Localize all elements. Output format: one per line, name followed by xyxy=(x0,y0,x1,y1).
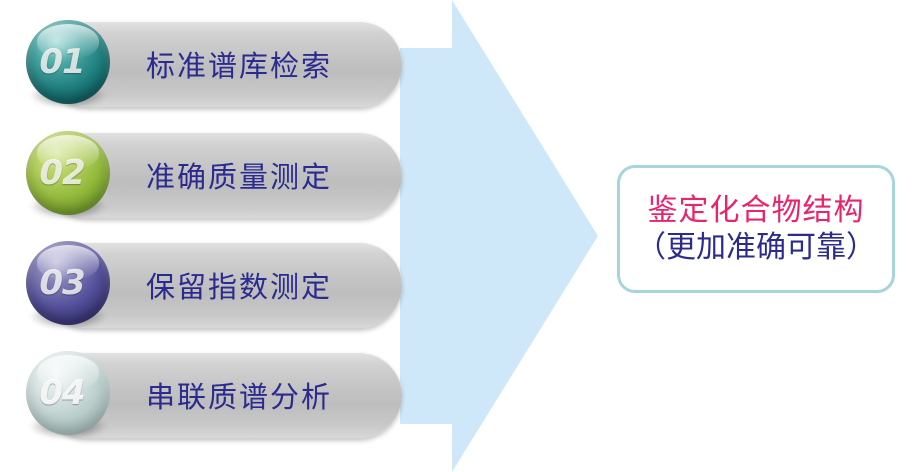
step-label-1: 标准谱库检索 xyxy=(146,20,332,108)
step-number-2: 02 xyxy=(20,131,104,215)
step-badge-2: 02 xyxy=(20,131,112,223)
step-row-3[interactable]: 03 保留指数测定 xyxy=(20,241,402,329)
step-label-2: 准确质量测定 xyxy=(146,131,332,219)
result-subtitle: （更加准确可靠） xyxy=(636,229,876,267)
step-badge-3: 03 xyxy=(20,241,112,333)
step-badge-1: 01 xyxy=(20,20,112,112)
step-number-4: 04 xyxy=(20,351,104,435)
step-row-1[interactable]: 01 标准谱库检索 xyxy=(20,20,402,108)
result-title: 鉴定化合物结构 xyxy=(648,192,865,230)
step-number-3: 03 xyxy=(20,241,104,325)
result-box[interactable]: 鉴定化合物结构 （更加准确可靠） xyxy=(617,165,895,293)
step-label-4: 串联质谱分析 xyxy=(146,351,332,439)
diagram-canvas: 01 标准谱库检索 02 准确质量测定 03 保留指数测定 04 串联质谱分析 xyxy=(0,0,912,472)
step-row-4[interactable]: 04 串联质谱分析 xyxy=(20,351,402,439)
step-badge-4: 04 xyxy=(20,351,112,443)
step-label-3: 保留指数测定 xyxy=(146,241,332,329)
process-arrow-icon xyxy=(400,0,600,472)
step-row-2[interactable]: 02 准确质量测定 xyxy=(20,131,402,219)
step-number-1: 01 xyxy=(20,20,104,104)
